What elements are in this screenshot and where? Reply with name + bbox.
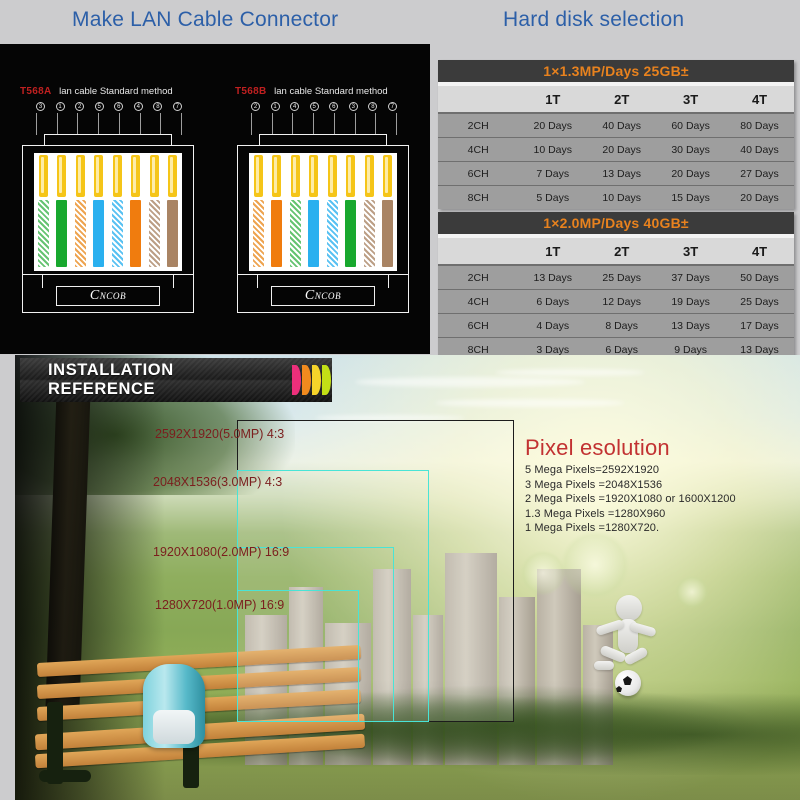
brand-logo-text: CNCOB [90, 288, 126, 304]
pin-number-3: 3 [36, 102, 45, 111]
pin-lead [181, 113, 182, 135]
page-title-lan: Make LAN Cable Connector [72, 8, 338, 32]
gold-contact-pin [57, 155, 66, 197]
wire-brown [167, 200, 178, 267]
capacity-cell: 10 Days [587, 186, 656, 210]
wire-column-brown [166, 153, 179, 271]
capacity-cell: 27 Days [725, 162, 794, 186]
pixel-resolution-line-2: 3 Mega Pixels =2048X1536 [525, 478, 790, 493]
wire-brown [382, 200, 393, 267]
capacity-cell: 19 Days [656, 290, 725, 314]
brand-logo-box-t568a: CNCOB [56, 286, 160, 306]
pin-lead-row-t568a [36, 113, 182, 135]
table-row: 6CH4 Days8 Days13 Days17 Days [438, 314, 794, 338]
capacity-cell: 4 Days [518, 314, 587, 338]
table-header-4T: 4T [725, 86, 794, 113]
installation-reference-banner: INSTALLATION REFERENCE [20, 358, 332, 402]
pin-lead [375, 113, 376, 135]
pixel-resolution-line-4: 1.3 Mega Pixels =1280X960 [525, 507, 790, 522]
table-row: 8CH5 Days10 Days15 Days20 Days [438, 186, 794, 210]
capacity-table-1: 1T2T3T4T 2CH20 Days40 Days60 Days80 Days… [438, 86, 794, 209]
wire-blue [93, 200, 104, 267]
rj45-connector-t568b: CNCOB [237, 134, 409, 314]
pixel-resolution-title: Pixel esolution [525, 435, 790, 461]
capacity-cell: 40 Days [587, 113, 656, 138]
gold-contact-pin [383, 155, 392, 197]
gold-contact-pin [94, 155, 103, 197]
pin-lead [119, 113, 120, 135]
pin-lead [77, 113, 78, 135]
pixel-resolution-lines: 5 Mega Pixels=2592X19203 Mega Pixels =20… [525, 463, 790, 536]
capacity-table-2: 1T2T3T4T 2CH13 Days25 Days37 Days50 Days… [438, 238, 794, 361]
capacity-cell: 17 Days [725, 314, 794, 338]
capacity-cell: 7 Days [518, 162, 587, 186]
pin-number-8: 8 [368, 102, 377, 111]
wire-column-orange [129, 153, 142, 271]
hard-disk-table-2: 1×2.0MP/Days 40GB± 1T2T3T4T 2CH13 Days25… [438, 212, 794, 361]
capacity-cell: 50 Days [725, 265, 794, 290]
standard-column-t568a: T568A lan cable Standard method 31256487… [0, 44, 215, 354]
capacity-cell: 10 Days [518, 138, 587, 162]
gold-contact-pin [346, 155, 355, 197]
table-header-row: 1T2T3T4T [438, 86, 794, 113]
pin-number-5: 5 [310, 102, 319, 111]
wire-column-blue-white [111, 153, 124, 271]
pin-number-row-t568a: 31256487 [36, 102, 182, 111]
pin-number-8: 8 [153, 102, 162, 111]
wire-column-orange-white [74, 153, 87, 271]
pin-lead [396, 113, 397, 135]
banner-label: INSTALLATION REFERENCE [48, 361, 282, 399]
wire-blue [308, 200, 319, 267]
standard-code-label: T568B [235, 86, 267, 97]
table-corner-header [438, 238, 518, 265]
channel-label: 4CH [438, 138, 518, 162]
capacity-cell: 13 Days [518, 265, 587, 290]
chevron-icon-3 [312, 365, 321, 395]
pin-number-4: 4 [290, 102, 299, 111]
table-row: 4CH10 Days20 Days30 Days40 Days [438, 138, 794, 162]
wire-orange-white [75, 200, 86, 267]
pixel-resolution-line-3: 2 Mega Pixels =1920X1080 or 1600X1200 [525, 492, 790, 507]
wire-orange-white [253, 200, 264, 267]
chevron-icon-1 [292, 365, 301, 395]
pin-lead [292, 113, 293, 135]
wire-brown-white [364, 200, 375, 267]
table-header-4T: 4T [725, 238, 794, 265]
standard-code-label: T568A [20, 86, 52, 97]
pin-number-row-t568b: 21456387 [251, 102, 397, 111]
wire-green [56, 200, 67, 267]
gold-contact-pin [309, 155, 318, 197]
soccer-ball [615, 670, 641, 696]
product-infographic-page: Make LAN Cable Connector Hard disk selec… [0, 0, 800, 800]
pin-number-1: 1 [56, 102, 65, 111]
pixel-resolution-line-1: 5 Mega Pixels=2592X1920 [525, 463, 790, 478]
table-row: 2CH20 Days40 Days60 Days80 Days [438, 113, 794, 138]
capacity-cell: 25 Days [587, 265, 656, 290]
chevron-icon-4 [322, 365, 331, 395]
brand-logo-box-t568b: CNCOB [271, 286, 375, 306]
pin-lead [98, 113, 99, 135]
pin-lead [140, 113, 141, 135]
installation-reference-photo: 2592X1920(5.0MP) 4:3 2048X1536(3.0MP) 4:… [15, 355, 800, 800]
channel-label: 2CH [438, 113, 518, 138]
headings-bar: Make LAN Cable Connector Hard disk selec… [0, 0, 800, 44]
wire-orange [271, 200, 282, 267]
standard-column-t568b: T568B lan cable Standard method 21456387… [215, 44, 430, 354]
wire-orange [130, 200, 141, 267]
capacity-cell: 8 Days [587, 314, 656, 338]
pin-number-2: 2 [251, 102, 260, 111]
pin-number-3: 3 [349, 102, 358, 111]
wire-column-brown-white [363, 153, 376, 271]
capacity-cell: 20 Days [587, 138, 656, 162]
table-header-3T: 3T [656, 238, 725, 265]
pin-number-6: 6 [114, 102, 123, 111]
wire-blue-white [327, 200, 338, 267]
table-corner-header [438, 86, 518, 113]
pin-number-1: 1 [271, 102, 280, 111]
wire-green-white [38, 200, 49, 267]
channel-label: 4CH [438, 290, 518, 314]
wire-column-green-white [289, 153, 302, 271]
pin-lead-row-t568b [251, 113, 397, 135]
wire-column-green [344, 153, 357, 271]
wire-window-t568b [249, 153, 397, 271]
gold-contact-pin [168, 155, 177, 197]
gold-contact-pin [113, 155, 122, 197]
pin-number-2: 2 [75, 102, 84, 111]
pin-number-5: 5 [95, 102, 104, 111]
standard-desc-label: lan cable Standard method [274, 86, 388, 97]
capacity-cell: 20 Days [725, 186, 794, 210]
capacity-cell: 15 Days [656, 186, 725, 210]
table-row: 4CH6 Days12 Days19 Days25 Days [438, 290, 794, 314]
capacity-cell: 80 Days [725, 113, 794, 138]
capacity-cell: 12 Days [587, 290, 656, 314]
table-header-3T: 3T [656, 86, 725, 113]
res-label-3mp: 2048X1536(3.0MP) 4:3 [153, 475, 282, 489]
standard-desc-label: lan cable Standard method [59, 86, 173, 97]
capacity-cell: 25 Days [725, 290, 794, 314]
standard-title-t568b: T568B lan cable Standard method [235, 86, 388, 97]
capacity-cell: 30 Days [656, 138, 725, 162]
wire-brown-white [149, 200, 160, 267]
wire-column-brown-white [148, 153, 161, 271]
backpack [143, 664, 205, 748]
wire-column-blue-white [326, 153, 339, 271]
wire-column-blue [92, 153, 105, 271]
wire-column-green-white [37, 153, 50, 271]
table-title: 1×2.0MP/Days 40GB± [438, 212, 794, 234]
wire-green-white [290, 200, 301, 267]
capacity-cell: 40 Days [725, 138, 794, 162]
gold-contact-pin [272, 155, 281, 197]
channel-label: 6CH [438, 162, 518, 186]
gold-contact-pin [76, 155, 85, 197]
res-label-5mp: 2592X1920(5.0MP) 4:3 [155, 427, 284, 441]
res-label-2mp: 1920X1080(2.0MP) 16:9 [153, 545, 289, 559]
wire-green [345, 200, 356, 267]
pin-lead [272, 113, 273, 135]
pin-number-7: 7 [388, 102, 397, 111]
capacity-cell: 13 Days [587, 162, 656, 186]
table-title: 1×1.3MP/Days 25GB± [438, 60, 794, 82]
hard-disk-table-1: 1×1.3MP/Days 25GB± 1T2T3T4T 2CH20 Days40… [438, 60, 794, 209]
wire-column-orange-white [252, 153, 265, 271]
channel-label: 8CH [438, 186, 518, 210]
capacity-cell: 13 Days [656, 314, 725, 338]
lan-cable-panel: T568A lan cable Standard method 31256487… [0, 44, 430, 354]
pin-lead [160, 113, 161, 135]
wire-column-brown [381, 153, 394, 271]
table-header-1T: 1T [518, 86, 587, 113]
wire-window-t568a [34, 153, 182, 271]
chevron-icon-group [292, 365, 332, 395]
capacity-cell: 37 Days [656, 265, 725, 290]
table-header-row: 1T2T3T4T [438, 238, 794, 265]
channel-label: 6CH [438, 314, 518, 338]
gold-contact-pin [131, 155, 140, 197]
wire-column-orange [270, 153, 283, 271]
table-header-2T: 2T [587, 238, 656, 265]
gold-contact-pin [291, 155, 300, 197]
table-header-2T: 2T [587, 86, 656, 113]
capacity-cell: 60 Days [656, 113, 725, 138]
wire-blue-white [112, 200, 123, 267]
pin-number-4: 4 [134, 102, 143, 111]
pin-lead [36, 113, 37, 135]
res-label-1mp: 1280X720(1.0MP) 16:9 [155, 598, 284, 612]
brand-logo-text: CNCOB [305, 288, 341, 304]
wire-column-green [55, 153, 68, 271]
gold-contact-pin [254, 155, 263, 197]
pin-lead [355, 113, 356, 135]
gold-contact-pin [328, 155, 337, 197]
capacity-cell: 20 Days [656, 162, 725, 186]
wire-column-blue [307, 153, 320, 271]
pin-number-7: 7 [173, 102, 182, 111]
standard-title-t568a: T568A lan cable Standard method [20, 86, 173, 97]
pixel-resolution-line-5: 1 Mega Pixels =1280X720. [525, 521, 790, 536]
channel-label: 2CH [438, 265, 518, 290]
table-row: 6CH7 Days13 Days20 Days27 Days [438, 162, 794, 186]
capacity-cell: 20 Days [518, 113, 587, 138]
pin-lead [334, 113, 335, 135]
page-title-harddisk: Hard disk selection [503, 8, 684, 32]
table-header-1T: 1T [518, 238, 587, 265]
pixel-resolution-legend: Pixel esolution 5 Mega Pixels=2592X19203… [525, 435, 790, 536]
table-row: 2CH13 Days25 Days37 Days50 Days [438, 265, 794, 290]
rj45-connector-t568a: CNCOB [22, 134, 194, 314]
pin-number-6: 6 [329, 102, 338, 111]
pin-lead [251, 113, 252, 135]
gold-contact-pin [150, 155, 159, 197]
capacity-cell: 5 Days [518, 186, 587, 210]
hard-disk-tables: 1×1.3MP/Days 25GB± 1T2T3T4T 2CH20 Days40… [430, 44, 800, 354]
pin-lead [313, 113, 314, 135]
capacity-cell: 6 Days [518, 290, 587, 314]
pin-lead [57, 113, 58, 135]
gold-contact-pin [365, 155, 374, 197]
chevron-icon-2 [302, 365, 311, 395]
gold-contact-pin [39, 155, 48, 197]
